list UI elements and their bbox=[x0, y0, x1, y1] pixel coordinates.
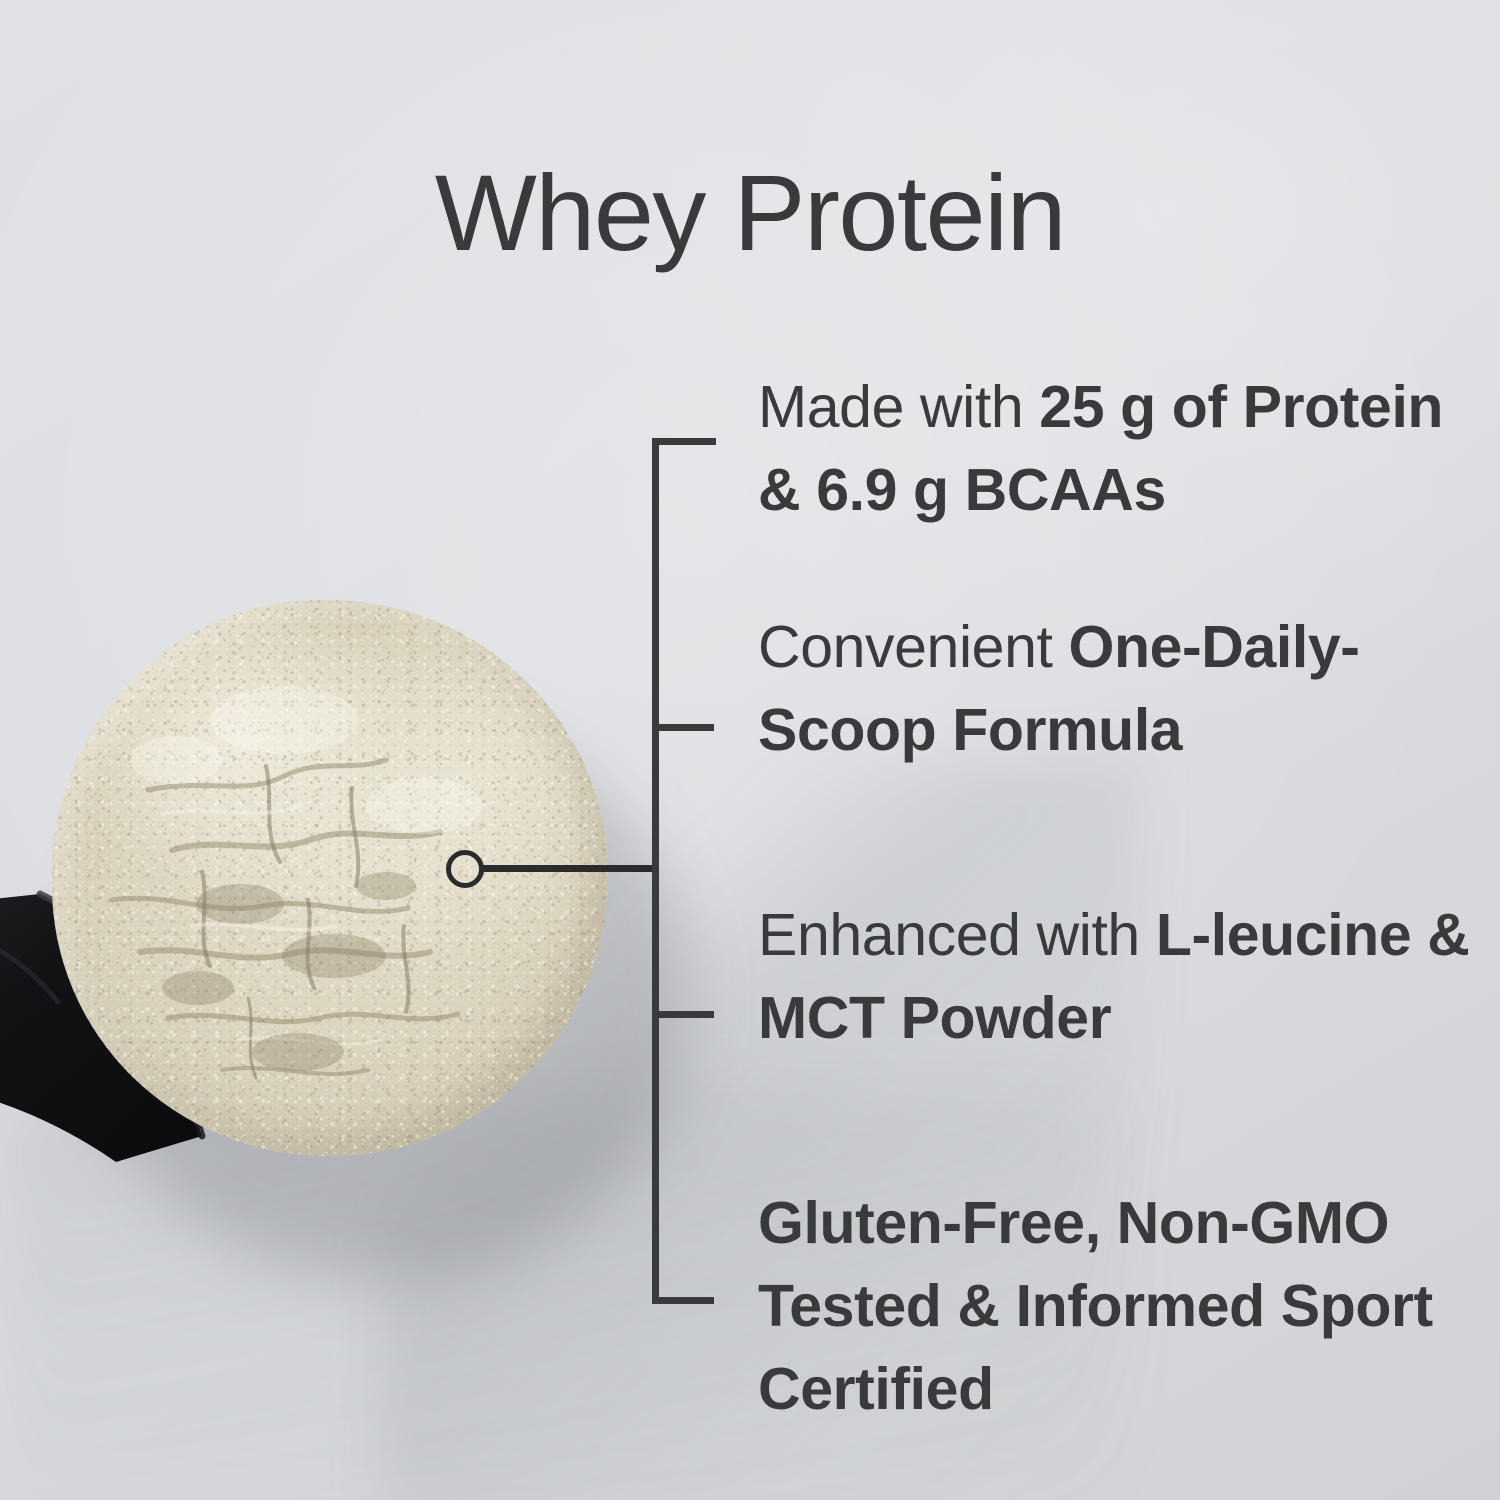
callout-2-lead: Convenient bbox=[758, 614, 1068, 680]
callout-certifications: Gluten-Free, Non-GMO Tested & Informed S… bbox=[758, 1182, 1478, 1431]
callout-leader-line bbox=[482, 865, 658, 872]
callout-l-leucine-mct: Enhanced with L-leucine & MCT Powder bbox=[758, 894, 1478, 1060]
page-title: Whey Protein bbox=[0, 156, 1500, 269]
callout-one-daily-scoop: Convenient One-Daily-Scoop Formula bbox=[758, 606, 1478, 772]
bracket-tick-1 bbox=[652, 438, 716, 445]
protein-powder-mound bbox=[52, 600, 608, 1156]
bracket-tick-4 bbox=[652, 1297, 714, 1304]
powder-grain-texture bbox=[52, 600, 608, 1156]
callout-3-lead: Enhanced with bbox=[758, 902, 1156, 968]
powder-crack-lines bbox=[52, 600, 608, 1156]
callout-4-strong: Gluten-Free, Non-GMO Tested & Informed S… bbox=[758, 1190, 1433, 1422]
powder-fine-grain-texture bbox=[52, 600, 608, 1156]
callout-protein-bcaa: Made with 25 g of Protein & 6.9 g BCAAs bbox=[758, 366, 1478, 532]
infographic-canvas: Whey Protein bbox=[0, 0, 1500, 1500]
product-photo bbox=[0, 560, 700, 1260]
callout-1-lead: Made with bbox=[758, 374, 1039, 440]
bracket-tick-3 bbox=[652, 1011, 714, 1018]
bracket-spine bbox=[652, 438, 659, 1304]
bracket-tick-2 bbox=[652, 724, 714, 731]
callout-marker-ring bbox=[446, 850, 484, 888]
